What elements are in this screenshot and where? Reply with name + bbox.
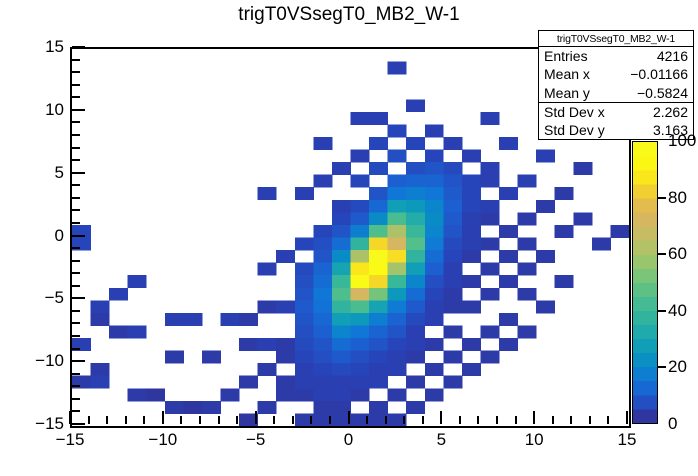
x-axis-tick xyxy=(106,416,108,424)
x-axis-tick-label: −10 xyxy=(133,430,193,450)
x-axis-tick xyxy=(310,416,312,424)
x-axis-tick xyxy=(273,416,275,424)
x-axis-tick xyxy=(385,416,387,424)
y-axis-tick xyxy=(72,423,85,425)
stats-row: Std Dev x2.262 xyxy=(539,102,693,121)
y-axis-tick xyxy=(72,121,80,123)
y-axis-tick-label: 5 xyxy=(6,163,64,183)
palette-tick xyxy=(658,366,666,368)
y-axis-tick xyxy=(72,184,80,186)
palette-tick-label: 80 xyxy=(668,188,687,208)
x-axis-tick xyxy=(88,416,90,424)
palette-gradient xyxy=(633,142,657,423)
y-axis-tick-label: −5 xyxy=(6,288,64,308)
palette-tick xyxy=(658,253,666,255)
x-axis-tick xyxy=(199,416,201,424)
x-axis-tick xyxy=(143,416,145,424)
x-axis-tick xyxy=(180,416,182,424)
y-axis-tick xyxy=(72,373,80,375)
y-axis-tick xyxy=(72,348,80,350)
stats-row-key: Std Dev x xyxy=(544,103,605,121)
stats-row-key: Entries xyxy=(544,47,588,65)
stats-row-key: Mean x xyxy=(544,65,590,83)
root-canvas: trigT0VSsegT0_MB2_W-1 −15−10−5051015 −15… xyxy=(0,0,698,476)
x-axis-tick xyxy=(552,416,554,424)
x-axis-tick xyxy=(292,416,294,424)
x-axis-tick xyxy=(125,416,127,424)
y-axis-tick xyxy=(72,235,85,237)
x-axis-tick xyxy=(496,416,498,424)
stats-row: Mean y−0.5824 xyxy=(539,84,693,102)
y-axis-tick xyxy=(72,272,80,274)
palette-tick-label: 20 xyxy=(668,357,687,377)
y-axis-tick xyxy=(72,360,85,362)
x-axis-tick xyxy=(329,416,331,424)
y-axis-tick xyxy=(72,260,80,262)
palette-tick-label: 60 xyxy=(668,244,687,264)
stats-box-title: trigT0VSsegT0_MB2_W-1 xyxy=(539,31,693,47)
x-axis-tick xyxy=(626,411,628,424)
stats-row-key: Mean y xyxy=(544,84,590,102)
x-axis-tick xyxy=(255,411,257,424)
x-axis-tick xyxy=(589,416,591,424)
y-axis-tick xyxy=(72,310,80,312)
y-axis-tick xyxy=(72,297,85,299)
x-axis-tick xyxy=(570,416,572,424)
x-axis-tick xyxy=(477,416,479,424)
palette-tick xyxy=(658,310,666,312)
y-axis-tick xyxy=(72,84,80,86)
x-axis-tick-label: 0 xyxy=(319,430,379,450)
y-axis-tick xyxy=(72,322,80,324)
x-axis-tick-label: 15 xyxy=(597,430,657,450)
color-palette xyxy=(632,141,658,424)
stats-row-value: −0.5824 xyxy=(637,84,688,102)
y-axis-tick-label: 0 xyxy=(6,226,64,246)
stats-rows: Entries4216Mean x−0.01166Mean y−0.5824St… xyxy=(539,47,693,139)
x-axis-tick xyxy=(515,416,517,424)
x-axis-tick xyxy=(607,416,609,424)
y-axis-tick xyxy=(72,71,80,73)
palette-tick-label: 100 xyxy=(668,131,696,151)
x-axis-tick-label: −5 xyxy=(226,430,286,450)
x-axis-tick-label: −15 xyxy=(40,430,100,450)
y-axis-tick xyxy=(72,159,80,161)
y-axis-tick xyxy=(72,46,85,48)
x-axis-labels: −15−10−5051015 xyxy=(0,430,698,454)
y-axis-tick xyxy=(72,247,80,249)
x-axis-tick xyxy=(533,411,535,424)
x-axis-tick xyxy=(422,416,424,424)
palette-tick-label: 0 xyxy=(668,414,677,434)
stats-box[interactable]: trigT0VSsegT0_MB2_W-1 Entries4216Mean x−… xyxy=(538,30,694,140)
stats-row: Mean x−0.01166 xyxy=(539,65,693,83)
palette-axis: 020406080100 xyxy=(658,141,698,424)
palette-tick xyxy=(658,197,666,199)
y-axis-tick xyxy=(72,222,80,224)
y-axis-tick xyxy=(72,109,85,111)
y-axis-tick xyxy=(72,147,80,149)
x-axis-tick xyxy=(403,416,405,424)
y-axis-tick xyxy=(72,209,80,211)
page-title: trigT0VSsegT0_MB2_W-1 xyxy=(0,4,698,26)
y-axis-tick-label: 10 xyxy=(6,100,64,120)
x-axis-tick xyxy=(348,411,350,424)
y-axis-tick xyxy=(72,96,80,98)
stats-row-value: −0.01166 xyxy=(630,65,688,83)
x-axis-tick xyxy=(366,416,368,424)
palette-tick-label: 40 xyxy=(668,301,687,321)
stats-row-value: 4216 xyxy=(657,47,688,65)
x-axis-tick xyxy=(459,416,461,424)
stats-row-value: 2.262 xyxy=(653,103,688,121)
y-axis-tick xyxy=(72,285,80,287)
stats-row: Entries4216 xyxy=(539,47,693,65)
x-axis-tick xyxy=(162,411,164,424)
x-axis-tick xyxy=(218,416,220,424)
y-axis-tick xyxy=(72,172,85,174)
y-axis-tick xyxy=(72,197,80,199)
x-axis-tick xyxy=(236,416,238,424)
y-axis-tick-label: −10 xyxy=(6,351,64,371)
x-axis-tick xyxy=(69,411,71,424)
y-axis-tick xyxy=(72,398,80,400)
y-axis-labels: −15−10−5051015 xyxy=(0,0,64,476)
y-axis-tick xyxy=(72,134,80,136)
y-axis-tick-label: 15 xyxy=(6,37,64,57)
x-axis-tick-label: 10 xyxy=(504,430,564,450)
y-axis-tick xyxy=(72,410,80,412)
y-axis-tick xyxy=(72,335,80,337)
x-axis-tick xyxy=(440,411,442,424)
y-axis-tick xyxy=(72,59,80,61)
x-axis-tick-label: 5 xyxy=(411,430,471,450)
stats-row-key: Std Dev y xyxy=(544,121,605,139)
y-axis-tick xyxy=(72,385,80,387)
